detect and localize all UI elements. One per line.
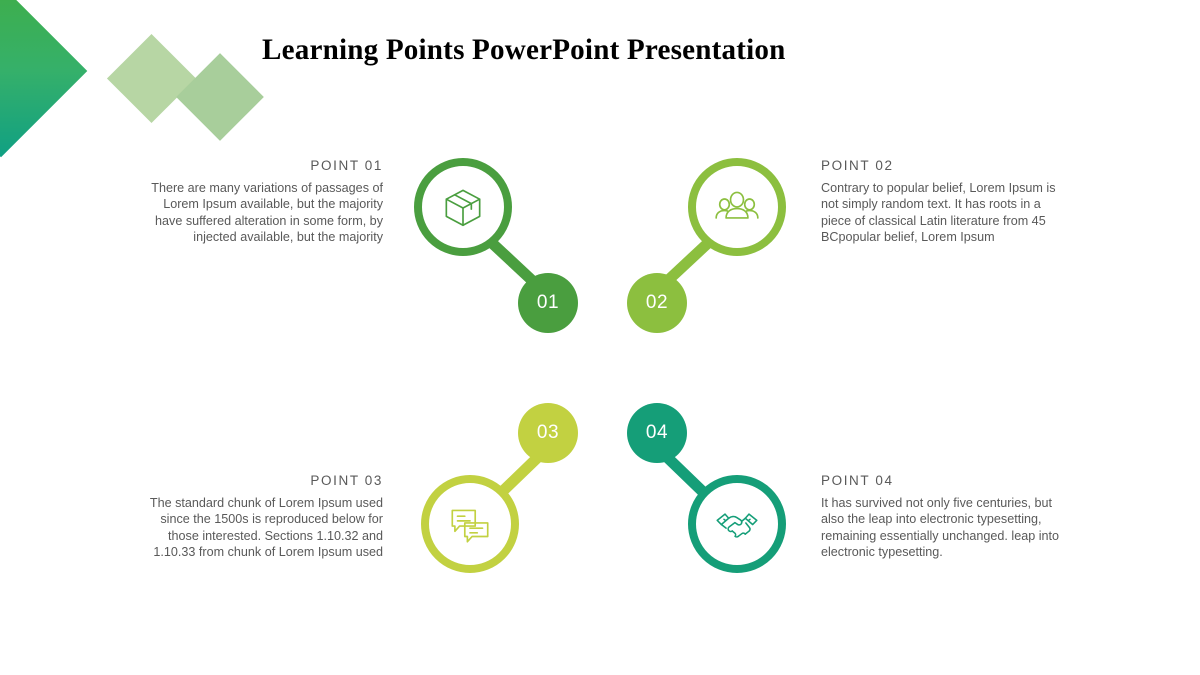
point-block-02: POINT 02 Contrary to popular belief, Lor… [821, 158, 1069, 246]
point-body-04: It has survived not only five centuries,… [821, 495, 1069, 561]
badge-number-03: 03 [537, 422, 559, 444]
point-body-02: Contrary to popular belief, Lorem Ipsum … [821, 180, 1069, 246]
point-body-03: The standard chunk of Lorem Ipsum used s… [135, 495, 383, 561]
point-heading-04: POINT 04 [821, 473, 1069, 488]
point-block-01: POINT 01 There are many variations of pa… [135, 158, 383, 246]
page-title: Learning Points PowerPoint Presentation [262, 33, 786, 67]
slide-canvas: Learning Points PowerPoint Presentation … [0, 0, 1200, 675]
light-diamond-small [176, 53, 264, 141]
people-group-icon [712, 182, 762, 232]
point-heading-02: POINT 02 [821, 158, 1069, 173]
point-badge-02[interactable]: 02 [627, 273, 687, 333]
light-diamond-mid [107, 34, 196, 123]
badge-number-04: 04 [646, 422, 668, 444]
point-body-01: There are many variations of passages of… [135, 180, 383, 246]
icon-ring-02[interactable] [688, 158, 786, 256]
badge-number-02: 02 [646, 292, 668, 314]
handshake-icon [712, 499, 762, 549]
box-icon [438, 182, 488, 232]
icon-ring-03[interactable] [421, 475, 519, 573]
point-badge-01[interactable]: 01 [518, 273, 578, 333]
gradient-diamond [0, 0, 87, 157]
point-badge-04[interactable]: 04 [627, 403, 687, 463]
point-block-04: POINT 04 It has survived not only five c… [821, 473, 1069, 561]
badge-number-01: 01 [537, 292, 559, 314]
point-heading-01: POINT 01 [135, 158, 383, 173]
icon-ring-01[interactable] [414, 158, 512, 256]
chat-bubbles-icon [445, 499, 495, 549]
point-heading-03: POINT 03 [135, 473, 383, 488]
point-badge-03[interactable]: 03 [518, 403, 578, 463]
icon-ring-04[interactable] [688, 475, 786, 573]
point-block-03: POINT 03 The standard chunk of Lorem Ips… [135, 473, 383, 561]
